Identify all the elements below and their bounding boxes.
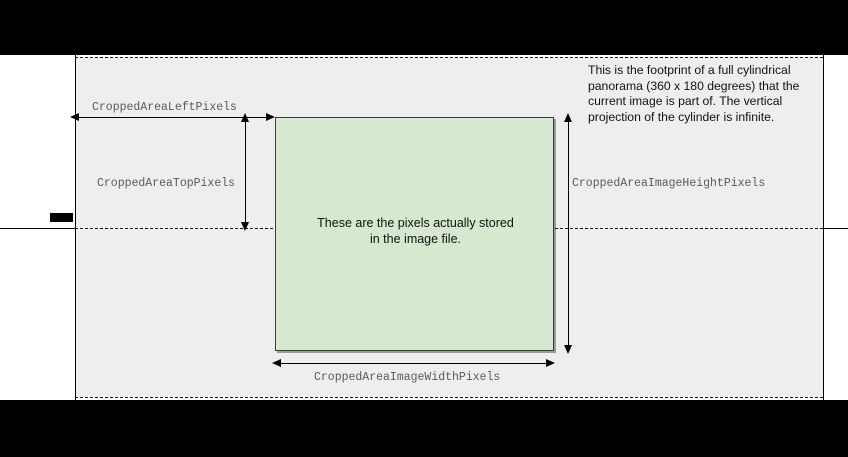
footprint-note-text: This is the footprint of a full cylindri… <box>588 63 820 125</box>
stored-pixels-rectangle: These are the pixels actually stored in … <box>275 117 554 351</box>
top-pixels-arrowhead-start <box>241 113 249 122</box>
caption-cropped-area-top-pixels: CroppedAreaTopPixels <box>97 177 235 190</box>
letterbox-band-top <box>0 0 848 55</box>
left-pixels-arrowhead-end <box>266 113 275 121</box>
image-width-dimension-line <box>281 363 548 364</box>
caption-cropped-area-left-pixels: CroppedAreaLeftPixels <box>92 101 237 114</box>
top-pixels-arrowhead-end <box>241 222 249 231</box>
horizon-marker-block <box>50 213 73 222</box>
horizon-solid-line-left <box>0 228 76 229</box>
stored-pixels-label: These are the pixels actually stored in … <box>276 215 555 247</box>
caption-cropped-area-image-height-pixels: CroppedAreaImageHeightPixels <box>572 177 765 190</box>
panel-top-dashed-edge <box>75 57 823 58</box>
letterbox-band-bottom <box>0 400 848 457</box>
horizon-solid-line-right <box>822 228 848 229</box>
image-height-arrowhead-start <box>564 113 572 122</box>
image-height-dimension-line <box>568 120 569 348</box>
image-width-arrowhead-start <box>272 359 281 367</box>
image-height-arrowhead-end <box>564 345 572 354</box>
panel-bottom-dashed-edge <box>75 397 823 398</box>
image-width-arrowhead-end <box>546 359 555 367</box>
panorama-crop-diagram: This is the footprint of a full cylindri… <box>0 0 848 457</box>
left-pixels-arrowhead-start <box>70 113 79 121</box>
top-pixels-dimension-line <box>245 120 246 225</box>
caption-cropped-area-image-width-pixels: CroppedAreaImageWidthPixels <box>314 371 500 384</box>
